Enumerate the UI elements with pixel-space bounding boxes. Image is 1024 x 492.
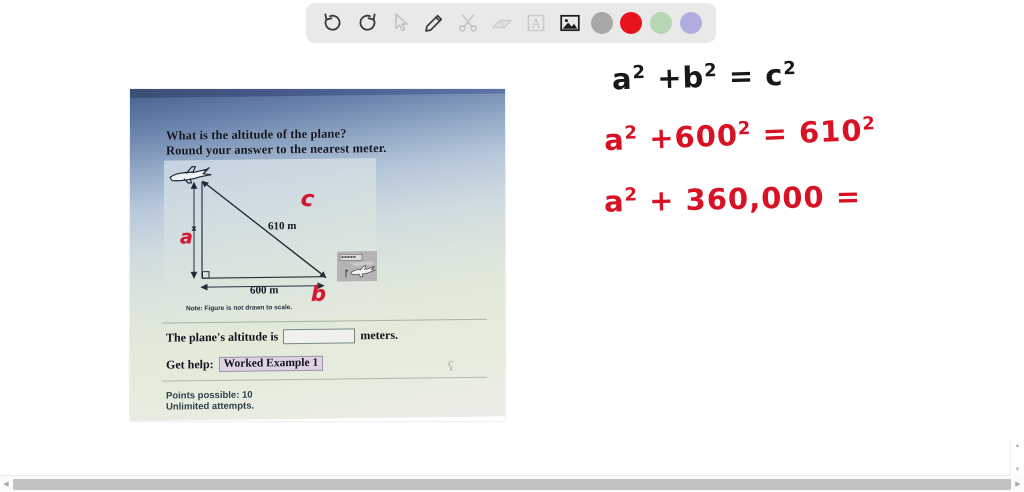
scroll-up-arrow[interactable]: ▲ xyxy=(1011,443,1024,449)
airport-image xyxy=(337,251,377,281)
hypotenuse-length-label: 610 m xyxy=(268,220,296,232)
airplane-icon xyxy=(170,166,211,183)
answer-input[interactable] xyxy=(283,328,355,344)
cursor-artifact: ʕ xyxy=(448,358,454,374)
app-canvas: A What is the altitude of the plane? Rou… xyxy=(0,0,1024,492)
select-cursor-icon[interactable] xyxy=(388,10,414,36)
redo-icon[interactable] xyxy=(354,10,380,36)
undo-icon[interactable] xyxy=(320,10,346,36)
horizontal-scrollbar-thumb[interactable] xyxy=(13,479,1011,490)
answer-row: The plane's altitude is meters. xyxy=(166,327,481,346)
worked-example-link[interactable]: Worked Example 1 xyxy=(219,356,324,372)
scroll-down-arrow[interactable]: ▼ xyxy=(1011,467,1024,473)
problem-screenshot-image[interactable]: What is the altitude of the plane? Round… xyxy=(130,89,505,421)
help-row: Get help: Worked Example 1 xyxy=(166,356,323,373)
swatch-green[interactable] xyxy=(650,12,672,34)
swatch-red[interactable] xyxy=(620,12,642,34)
equation-pythagorean-theorem: a2 +b2 = c2 xyxy=(612,58,798,97)
question-line-2: Round your answer to the nearest meter. xyxy=(166,141,386,159)
text-icon[interactable]: A xyxy=(523,10,549,36)
eraser-icon[interactable] xyxy=(489,10,515,36)
triangle-figure: x 610 m xyxy=(164,158,376,319)
swatch-gray[interactable] xyxy=(591,12,613,34)
drawing-toolbar: A xyxy=(306,3,716,43)
right-angle-marker xyxy=(203,272,210,279)
pen-icon[interactable] xyxy=(421,10,447,36)
annotation-leg-b: b xyxy=(311,282,326,306)
horizontal-scrollbar[interactable]: ◀ ▶ xyxy=(0,475,1024,492)
vertical-scrollbar[interactable]: ▲ ▼ xyxy=(1010,440,1024,476)
divider-above-footer xyxy=(162,377,487,382)
scissors-icon[interactable] xyxy=(455,10,481,36)
figure-note-prefix: Note: xyxy=(186,305,203,312)
problem-content: What is the altitude of the plane? Round… xyxy=(136,97,499,417)
image-icon[interactable] xyxy=(557,10,583,36)
scroll-left-arrow[interactable]: ◀ xyxy=(0,481,12,488)
attempts-label: Unlimited attempts. xyxy=(166,401,254,413)
equation-expanded: a2 + 360,000 = xyxy=(604,179,862,218)
swatch-purple[interactable] xyxy=(680,12,702,34)
answer-suffix-label: meters. xyxy=(360,328,398,343)
help-label: Get help: xyxy=(166,357,214,373)
svg-text:A: A xyxy=(531,17,540,31)
equation-substituted: a2 +6002 = 6102 xyxy=(603,113,876,157)
answer-prefix-label: The plane's altitude is xyxy=(166,329,278,345)
problem-card: What is the altitude of the plane? Round… xyxy=(152,105,492,409)
figure-note-text: Figure is not drawn to scale. xyxy=(204,304,292,312)
base-length-label: 600 m xyxy=(250,284,278,296)
annotation-leg-a: a xyxy=(180,226,193,248)
divider-above-answer xyxy=(162,319,487,324)
figure-note: Note: Figure is not drawn to scale. xyxy=(186,304,292,312)
scroll-right-arrow[interactable]: ▶ xyxy=(1012,481,1024,488)
